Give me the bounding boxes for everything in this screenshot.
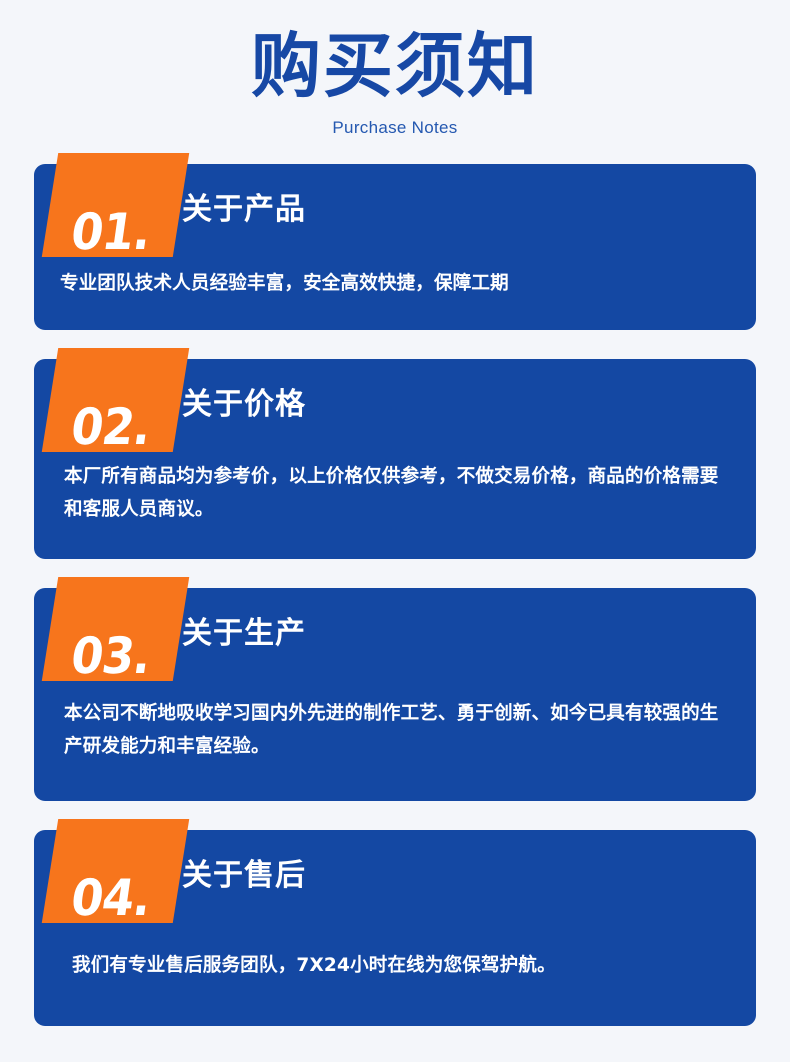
page-header: 购买须知 Purchase Notes [0,0,790,138]
note-card-3-body: 本公司不断地吸收学习国内外先进的制作工艺、勇于创新、如今已具有较强的生产研发能力… [34,681,756,789]
note-card-1-body: 专业团队技术人员经验丰富，安全高效快捷，保障工期 [34,257,756,324]
note-card-1-header: 01. 关于产品 [34,164,756,257]
note-card-2-title: 关于价格 [182,386,306,424]
note-card-3-title: 关于生产 [182,615,306,653]
note-card-1: 01. 关于产品 专业团队技术人员经验丰富，安全高效快捷，保障工期 [34,164,756,330]
number-badge-3 [42,577,189,681]
note-card-3-header: 03. 关于生产 [34,588,756,681]
page-title: 购买须知 [0,26,790,106]
page-subtitle: Purchase Notes [0,118,790,138]
note-card-4-title: 关于售后 [182,857,306,895]
number-badge-2 [42,348,189,452]
note-card-2-header: 02. 关于价格 [34,359,756,452]
note-card-4: 04. 关于售后 我们有专业售后服务团队，7X24小时在线为您保驾护航。 [34,830,756,1026]
note-card-4-body: 我们有专业售后服务团队，7X24小时在线为您保驾护航。 [34,923,756,1026]
number-badge-4 [42,819,189,923]
notes-card-list: 01. 关于产品 专业团队技术人员经验丰富，安全高效快捷，保障工期 02. 关于… [0,164,790,1026]
note-card-4-header: 04. 关于售后 [34,830,756,923]
note-card-2: 02. 关于价格 本厂所有商品均为参考价，以上价格仅供参考，不做交易价格，商品的… [34,359,756,559]
number-badge-1 [42,153,189,257]
note-card-1-title: 关于产品 [182,191,306,229]
note-card-3: 03. 关于生产 本公司不断地吸收学习国内外先进的制作工艺、勇于创新、如今已具有… [34,588,756,801]
note-card-2-body: 本厂所有商品均为参考价，以上价格仅供参考，不做交易价格，商品的价格需要和客服人员… [34,452,756,548]
